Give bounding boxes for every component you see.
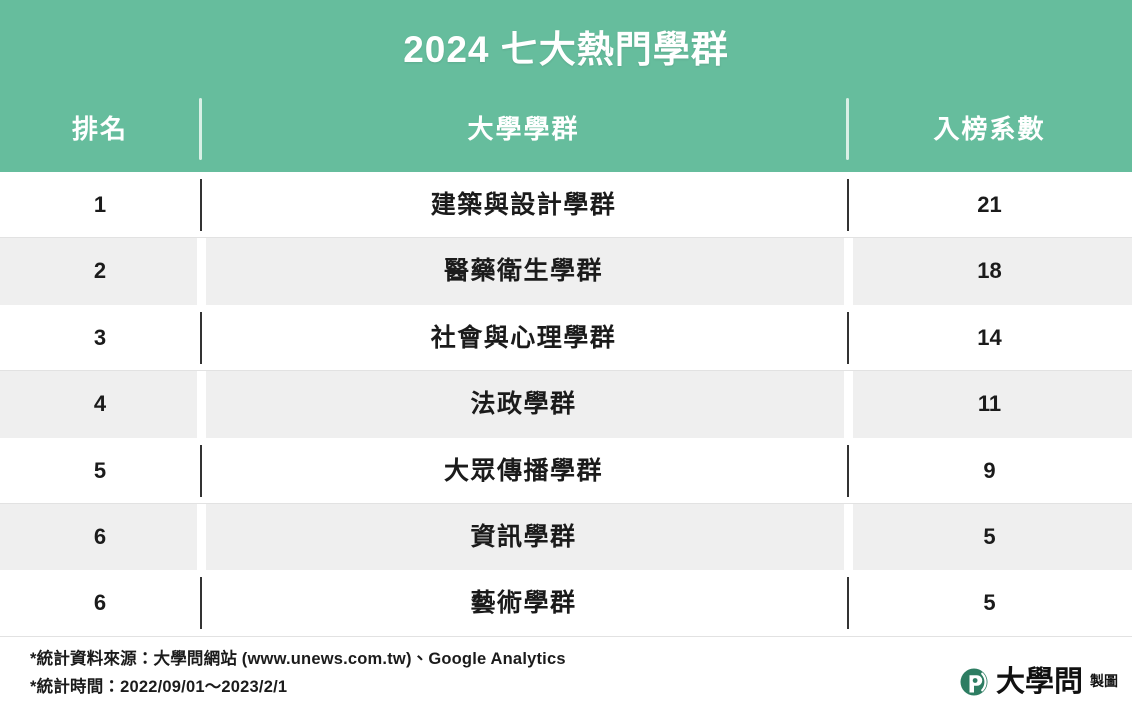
row-column-divider-1 bbox=[200, 445, 202, 497]
table-body: 1 建築與設計學群 21 2 醫藥衛生學群 18 3 社會與心理學群 14 4 … bbox=[0, 172, 1132, 637]
row-column-divider-2 bbox=[844, 238, 853, 304]
cell-count: 9 bbox=[847, 438, 1132, 504]
cell-count: 5 bbox=[847, 570, 1132, 636]
table-row: 2 醫藥衛生學群 18 bbox=[0, 238, 1132, 304]
cell-rank: 5 bbox=[0, 438, 200, 504]
cell-count: 14 bbox=[847, 305, 1132, 371]
cell-group: 醫藥衛生學群 bbox=[200, 238, 847, 304]
unews-logo-icon bbox=[959, 667, 989, 697]
row-column-divider-2 bbox=[847, 577, 849, 629]
cell-rank: 6 bbox=[0, 570, 200, 636]
row-column-divider-1 bbox=[200, 179, 202, 231]
row-column-divider-2 bbox=[844, 371, 853, 437]
table-row: 4 法政學群 11 bbox=[0, 371, 1132, 437]
cell-rank: 4 bbox=[0, 371, 200, 437]
table-row: 1 建築與設計學群 21 bbox=[0, 172, 1132, 238]
cell-rank: 3 bbox=[0, 305, 200, 371]
cell-rank: 2 bbox=[0, 238, 200, 304]
table-row: 6 資訊學群 5 bbox=[0, 504, 1132, 570]
footnotes: *統計資料來源：大學問網站 (www.unews.com.tw)、Google … bbox=[30, 645, 790, 701]
column-header-group: 大學學群 bbox=[200, 95, 847, 163]
row-column-divider-1 bbox=[197, 371, 206, 437]
column-header-count: 入榜系數 bbox=[847, 95, 1132, 163]
row-column-divider-1 bbox=[200, 312, 202, 364]
row-column-divider-2 bbox=[847, 179, 849, 231]
footnote-source: *統計資料來源：大學問網站 (www.unews.com.tw)、Google … bbox=[30, 645, 790, 673]
cell-count: 5 bbox=[847, 504, 1132, 570]
table-row: 6 藝術學群 5 bbox=[0, 570, 1132, 636]
brand-name: 大學問 bbox=[996, 667, 1083, 697]
cell-group: 社會與心理學群 bbox=[200, 305, 847, 371]
row-separator bbox=[0, 636, 1132, 637]
row-column-divider-2 bbox=[844, 504, 853, 570]
page-title: 2024 七大熱門學群 bbox=[0, 28, 1132, 72]
header-column-divider-1 bbox=[199, 98, 202, 160]
header-column-divider-2 bbox=[846, 98, 849, 160]
cell-group: 法政學群 bbox=[200, 371, 847, 437]
brand-logo: 大學問 製圖 bbox=[959, 666, 1118, 698]
cell-group: 大眾傳播學群 bbox=[200, 438, 847, 504]
cell-count: 18 bbox=[847, 238, 1132, 304]
brand-suffix: 製圖 bbox=[1090, 666, 1118, 698]
cell-count: 11 bbox=[847, 371, 1132, 437]
cell-group: 藝術學群 bbox=[200, 570, 847, 636]
cell-group: 資訊學群 bbox=[200, 504, 847, 570]
table-header-band: 2024 七大熱門學群 排名 大學學群 入榜系數 bbox=[0, 0, 1132, 172]
table-row: 3 社會與心理學群 14 bbox=[0, 305, 1132, 371]
cell-count: 21 bbox=[847, 172, 1132, 238]
table-header-row: 排名 大學學群 入榜系數 bbox=[0, 95, 1132, 163]
cell-rank: 1 bbox=[0, 172, 200, 238]
column-header-rank: 排名 bbox=[0, 95, 200, 163]
row-column-divider-1 bbox=[197, 504, 206, 570]
row-column-divider-2 bbox=[847, 312, 849, 364]
cell-group: 建築與設計學群 bbox=[200, 172, 847, 238]
row-column-divider-1 bbox=[200, 577, 202, 629]
infographic-page: 2024 七大熱門學群 排名 大學學群 入榜系數 1 建築與設計學群 21 2 … bbox=[0, 0, 1132, 710]
cell-rank: 6 bbox=[0, 504, 200, 570]
row-column-divider-1 bbox=[197, 238, 206, 304]
table-row: 5 大眾傳播學群 9 bbox=[0, 438, 1132, 504]
row-column-divider-2 bbox=[847, 445, 849, 497]
footnote-period: *統計時間：2022/09/01～2023/2/1 bbox=[30, 673, 790, 701]
